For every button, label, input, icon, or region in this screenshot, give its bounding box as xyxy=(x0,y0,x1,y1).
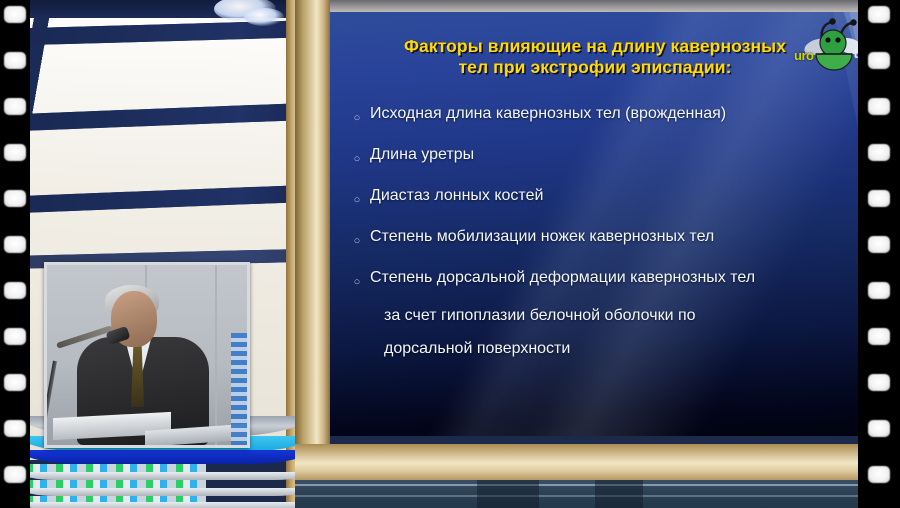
circle-bullet-icon: ○ xyxy=(344,228,370,254)
photo-wall-seam xyxy=(215,265,217,445)
film-perforation xyxy=(4,6,26,23)
desk-band xyxy=(30,472,310,480)
film-perforation xyxy=(868,374,890,391)
desk-band xyxy=(30,450,310,464)
video-content: Факторы влияющие на длину кавернозных те… xyxy=(30,0,858,508)
film-perforation xyxy=(868,466,890,483)
film-perforation xyxy=(868,6,890,23)
list-item: ○ Степень мобилизации ножек кавернозных … xyxy=(344,227,854,254)
desk-shadow-block xyxy=(477,480,539,508)
photo-blue-panel xyxy=(231,333,247,445)
film-perforation xyxy=(4,98,26,115)
desk-band xyxy=(30,502,310,508)
film-perforation xyxy=(4,328,26,345)
film-perforation xyxy=(4,282,26,299)
film-perforation xyxy=(4,144,26,161)
film-perforation xyxy=(868,328,890,345)
slide-title: Факторы влияющие на длину кавернозных те… xyxy=(358,36,832,79)
list-item-continuation: дорсальной поверхности xyxy=(384,339,854,359)
list-item: ○ Степень дорсальной деформации каверноз… xyxy=(344,268,854,295)
film-perforation xyxy=(868,52,890,69)
list-item-continuation: за счет гипоплазии белочной оболочки по xyxy=(384,306,854,326)
film-perforation xyxy=(868,98,890,115)
slide-title-line-1: Факторы влияющие на длину кавернозных xyxy=(358,36,832,57)
film-strip-left xyxy=(0,0,30,508)
film-perforation xyxy=(4,466,26,483)
circle-bullet-icon: ○ xyxy=(344,146,370,172)
film-perforation xyxy=(4,52,26,69)
urotv-bee-logo: uro tv xyxy=(792,18,858,80)
film-perforation xyxy=(868,420,890,437)
film-perforation xyxy=(868,144,890,161)
film-perforation xyxy=(4,420,26,437)
film-perforation xyxy=(4,190,26,207)
lower-desk-band xyxy=(295,480,858,508)
speaker-at-podium-photo xyxy=(44,262,250,448)
presentation-screen: Факторы влияющие на длину кавернозных те… xyxy=(295,0,858,508)
desk-highlight-line xyxy=(295,495,858,497)
circle-bullet-icon: ○ xyxy=(344,105,370,131)
list-item: ○ Исходная длина кавернозных тел (врожде… xyxy=(344,104,854,131)
list-item-label: Степень мобилизации ножек кавернозных те… xyxy=(370,227,714,247)
list-item-label: Диастаз лонных костей xyxy=(370,186,543,206)
screen-gold-bottom-frame xyxy=(295,444,858,480)
film-perforation xyxy=(4,236,26,253)
desk-shadow-block xyxy=(595,480,643,508)
slide: Факторы влияющие на длину кавернозных те… xyxy=(330,12,858,436)
list-item-label: Длина уретры xyxy=(370,145,474,165)
film-perforation xyxy=(868,236,890,253)
wall-stripe xyxy=(30,184,300,214)
screen-top-strip xyxy=(330,0,858,12)
list-item: ○ Длина уретры xyxy=(344,145,854,172)
desk-band xyxy=(30,488,310,496)
video-player-frame: Факторы влияющие на длину кавернозных те… xyxy=(0,0,900,508)
screen-gold-left-frame xyxy=(295,0,330,508)
circle-bullet-icon: ○ xyxy=(344,269,370,295)
desk-highlight-line xyxy=(295,484,858,486)
slide-bullet-list: ○ Исходная длина кавернозных тел (врожде… xyxy=(344,104,854,373)
film-perforation xyxy=(868,190,890,207)
wall-light-glint xyxy=(244,8,284,26)
slide-title-line-2: тел при экстрофии эписпадии: xyxy=(358,57,832,78)
list-item: ○ Диастаз лонных костей xyxy=(344,186,854,213)
wall-stripe xyxy=(30,102,300,132)
film-strip-right xyxy=(858,0,900,508)
logo-text-uro: uro xyxy=(794,48,813,63)
circle-bullet-icon: ○ xyxy=(344,187,370,213)
list-item-label: Степень дорсальной деформации кавернозны… xyxy=(370,268,755,288)
film-perforation xyxy=(868,282,890,299)
list-item-label: Исходная длина кавернозных тел (врожденн… xyxy=(370,104,726,124)
film-perforation xyxy=(4,374,26,391)
